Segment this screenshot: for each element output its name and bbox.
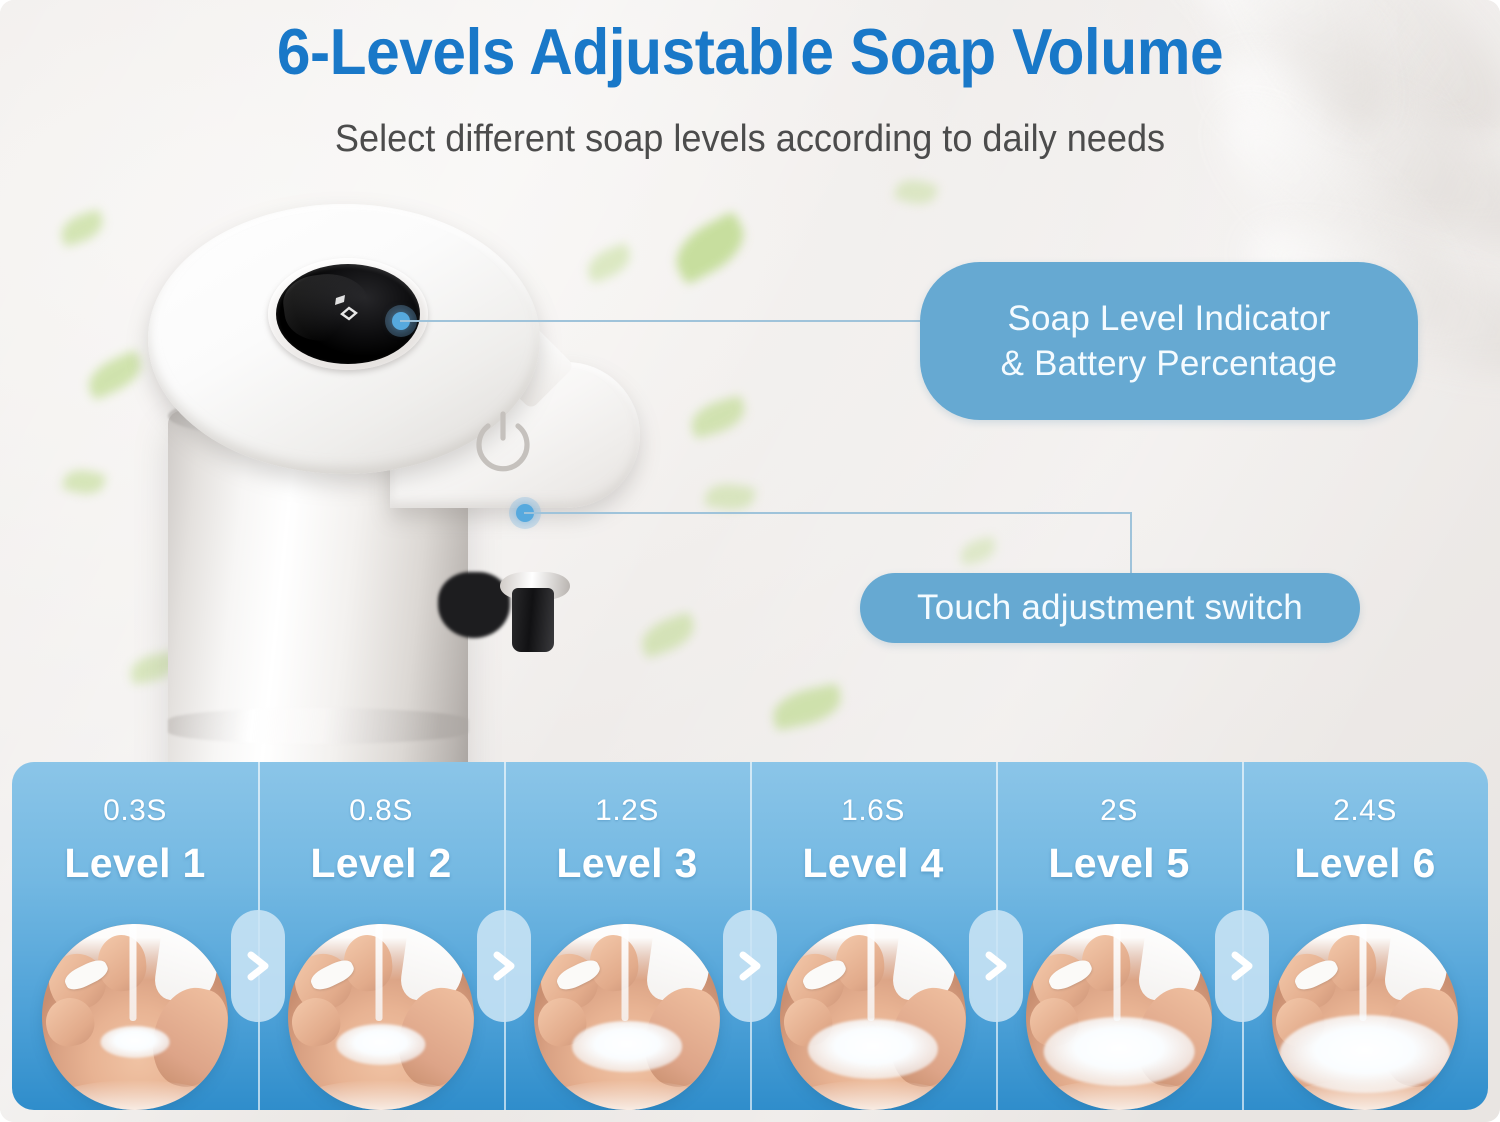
- level-duration: 0.3S: [103, 794, 167, 828]
- soap-stream: [868, 924, 875, 1021]
- soap-level-panel: 0.3SLevel 10.8SLevel 21.2SLevel 31.6SLev…: [12, 762, 1488, 1110]
- foam-blob: [808, 1019, 938, 1079]
- chevron-right-icon: [231, 910, 285, 1022]
- chevron-right-icon: [969, 910, 1023, 1022]
- switch-leader-line-vertical: [1130, 512, 1132, 578]
- level-duration: 2.4S: [1333, 794, 1397, 828]
- foam-blob: [572, 1021, 682, 1071]
- power-icon: [466, 406, 540, 480]
- soap-dispenser-photo: [120, 180, 680, 780]
- level-name: Level 3: [556, 840, 697, 887]
- chevron-right-icon: [723, 910, 777, 1022]
- level-name: Level 1: [64, 840, 205, 887]
- switch-callout-pill: Touch adjustment switch: [860, 573, 1360, 643]
- foam-blob: [1044, 1017, 1195, 1086]
- hand-foam-photo: [288, 924, 474, 1110]
- level-name: Level 2: [310, 840, 451, 887]
- level-name: Level 4: [802, 840, 943, 887]
- level-name: Level 5: [1048, 840, 1189, 887]
- display-callout-line2: & Battery Percentage: [1001, 341, 1338, 387]
- soap-nozzle: [512, 588, 554, 652]
- level-column[interactable]: 0.8SLevel 2: [258, 762, 504, 1110]
- display-callout-pill: Soap Level Indicator & Battery Percentag…: [920, 262, 1418, 420]
- dispenser-lower-ring: [168, 708, 468, 744]
- level-duration: 0.8S: [349, 794, 413, 828]
- level-column[interactable]: 0.3SLevel 1: [12, 762, 258, 1110]
- level-duration: 2S: [1100, 794, 1138, 828]
- battery-level-icon: [332, 294, 366, 332]
- display-leader-line: [400, 320, 926, 322]
- hand-foam-photo: [534, 924, 720, 1110]
- switch-callout-label: Touch adjustment switch: [917, 585, 1303, 631]
- foam-blob: [101, 1026, 170, 1058]
- level-duration: 1.2S: [595, 794, 659, 828]
- soap-stream: [376, 924, 383, 1021]
- soap-stream: [1360, 924, 1367, 1021]
- hand-foam-photo: [780, 924, 966, 1110]
- display-callout-line1: Soap Level Indicator: [1001, 296, 1338, 342]
- chevron-right-icon: [1215, 910, 1269, 1022]
- page-subtitle: Select different soap levels according t…: [38, 118, 1463, 161]
- hand-foam-photo: [42, 924, 228, 1110]
- level-column[interactable]: 1.6SLevel 4: [750, 762, 996, 1110]
- product-infographic: 6-Levels Adjustable Soap Volume Select d…: [0, 0, 1500, 1122]
- foam-blob: [336, 1024, 425, 1065]
- soap-stream: [130, 924, 137, 1021]
- nozzle-shadow: [438, 572, 510, 638]
- level-column[interactable]: 2.4SLevel 6: [1242, 762, 1488, 1110]
- level-column[interactable]: 2SLevel 5: [996, 762, 1242, 1110]
- level-name: Level 6: [1294, 840, 1435, 887]
- hand-foam-photo: [1026, 924, 1212, 1110]
- chevron-right-icon: [477, 910, 531, 1022]
- soap-stream: [1114, 924, 1121, 1021]
- level-column[interactable]: 1.2SLevel 3: [504, 762, 750, 1110]
- switch-leader-line-horizontal: [524, 512, 1132, 514]
- level-duration: 1.6S: [841, 794, 905, 828]
- soap-stream: [622, 924, 629, 1021]
- page-title: 6-Levels Adjustable Soap Volume: [53, 18, 1448, 86]
- hand-foam-photo: [1272, 924, 1458, 1110]
